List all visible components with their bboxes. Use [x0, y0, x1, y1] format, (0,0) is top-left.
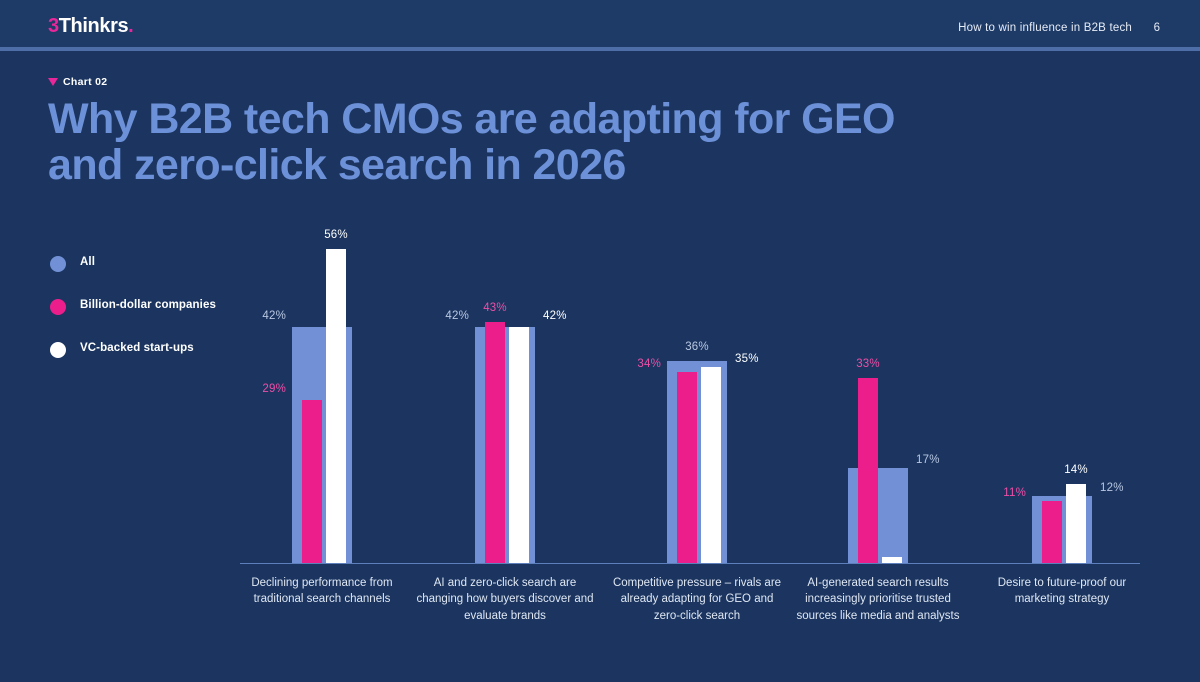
legend-swatch-vc-backed: [50, 342, 66, 358]
value-label-all-3: 17%: [916, 454, 952, 466]
bar-billion-dollar-2: [677, 372, 697, 563]
legend-swatch-all: [50, 256, 66, 272]
deck-title: How to win influence in B2B tech: [958, 22, 1132, 34]
chart-eyebrow-label: Chart 02: [63, 76, 107, 88]
logo-wordmark: Thinkrs: [59, 15, 128, 37]
header-divider: [0, 47, 1200, 51]
bar-billion-dollar-3: [858, 378, 878, 563]
value-label-bn-3: 33%: [848, 358, 888, 370]
legend-item-billion-dollar[interactable]: Billion-dollar companies: [50, 298, 230, 315]
legend-label-vc-backed: VC-backed start-ups: [80, 341, 194, 355]
bar-vc-backed-2: [701, 367, 721, 563]
legend-label-all: All: [80, 255, 95, 269]
bar-billion-dollar-4: [1042, 501, 1062, 563]
bar-vc-backed-3: [882, 557, 902, 563]
bar-all-1: [475, 327, 535, 563]
value-label-bn-2: 34%: [625, 358, 661, 370]
legend-item-vc-backed[interactable]: VC-backed start-ups: [50, 341, 230, 358]
bar-vc-backed-4: [1066, 484, 1086, 563]
value-label-all-0: 42%: [250, 310, 286, 322]
category-label-4: Desire to future-proof our marketing str…: [972, 575, 1152, 608]
chart-legend: All Billion-dollar companies VC-backed s…: [50, 255, 230, 384]
page-number: 6: [1154, 22, 1160, 34]
brand-logo[interactable]: 3Thinkrs.: [48, 15, 133, 38]
value-label-bn-1: 43%: [475, 302, 515, 314]
bar-vc-backed-0: [326, 249, 346, 563]
triangle-down-icon: [48, 78, 58, 86]
value-label-vc-1: 42%: [543, 310, 579, 322]
value-label-vc-4: 14%: [1056, 464, 1096, 476]
chart-baseline-axis: [240, 563, 1140, 564]
value-label-vc-0: 56%: [316, 229, 356, 241]
legend-item-all[interactable]: All: [50, 255, 230, 272]
logo-three: 3: [48, 15, 59, 37]
bar-vc-backed-1: [509, 327, 529, 563]
value-label-bn-0: 29%: [250, 383, 286, 395]
page-title: Why B2B tech CMOs are adapting for GEO a…: [48, 96, 908, 188]
bar-all-0: [292, 327, 352, 563]
logo-dot: .: [128, 15, 133, 37]
bar-billion-dollar-0: [302, 400, 322, 563]
category-label-2: Competitive pressure – rivals are alread…: [610, 575, 785, 624]
bar-all-4: [1032, 496, 1092, 563]
legend-swatch-billion-dollar: [50, 299, 66, 315]
value-label-vc-2: 35%: [735, 353, 771, 365]
bar-all-3: [848, 468, 908, 563]
value-label-all-1: 42%: [433, 310, 469, 322]
category-label-3: AI-generated search results increasingly…: [786, 575, 971, 624]
legend-label-billion-dollar: Billion-dollar companies: [80, 298, 216, 312]
category-label-0: Declining performance from traditional s…: [230, 575, 415, 608]
value-label-all-2: 36%: [677, 341, 717, 353]
value-label-all-4: 12%: [1100, 482, 1136, 494]
value-label-bn-4: 11%: [990, 487, 1026, 499]
bar-billion-dollar-1: [485, 322, 505, 563]
category-label-1: AI and zero-click search are changing ho…: [413, 575, 598, 624]
chart-eyebrow: Chart 02: [48, 76, 107, 88]
value-label-vc-3: 1%: [872, 537, 912, 549]
bar-all-2: [667, 361, 727, 563]
